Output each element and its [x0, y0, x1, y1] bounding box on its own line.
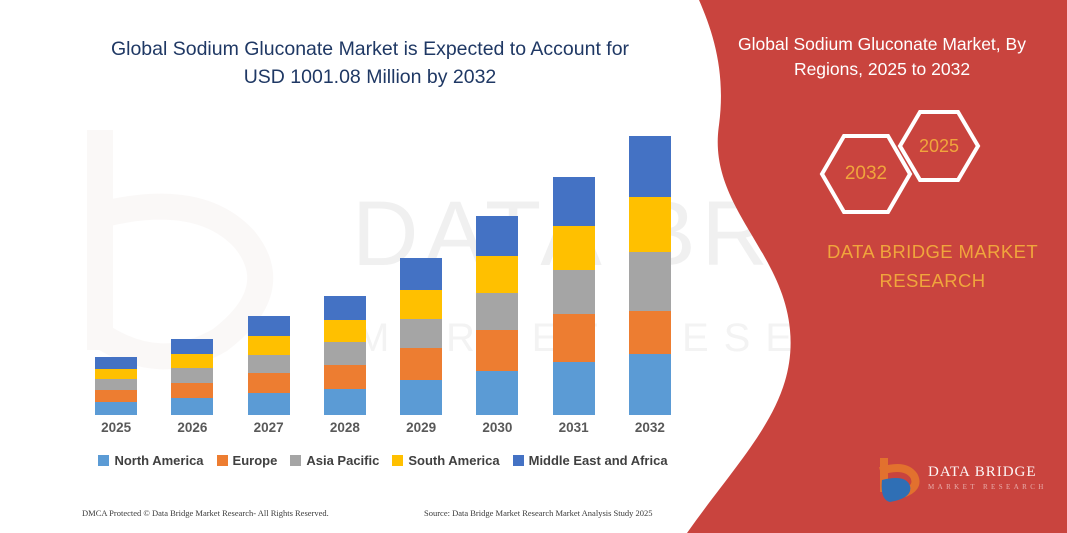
- bar-segment[interactable]: [248, 336, 290, 354]
- bar-segment[interactable]: [629, 311, 671, 353]
- bar-segment[interactable]: [171, 398, 213, 415]
- logo-tagline: MARKET RESEARCH: [928, 483, 1047, 491]
- legend-item[interactable]: South America: [392, 453, 499, 468]
- bar-segment[interactable]: [171, 368, 213, 382]
- bar-segment[interactable]: [553, 177, 595, 225]
- right-panel-title: Global Sodium Gluconate Market, By Regio…: [712, 32, 1052, 83]
- hexagon-badge-start-year: 2025: [896, 108, 982, 184]
- bar-segment[interactable]: [476, 216, 518, 256]
- bar-segment[interactable]: [553, 226, 595, 270]
- bar-segment[interactable]: [324, 342, 366, 364]
- stacked-bar[interactable]: [400, 258, 442, 415]
- brand-line-2: RESEARCH: [790, 267, 1067, 296]
- x-axis-tick-label: 2030: [459, 420, 535, 435]
- bar-segment[interactable]: [400, 380, 442, 415]
- legend-color-swatch: [98, 455, 109, 466]
- bar-segment[interactable]: [324, 389, 366, 415]
- stacked-bar[interactable]: [171, 339, 213, 415]
- bar-column: [231, 120, 307, 415]
- page-title: Global Sodium Gluconate Market is Expect…: [60, 36, 680, 91]
- bar-segment[interactable]: [476, 256, 518, 293]
- logo-name: DATA BRIDGE: [928, 464, 1047, 481]
- legend-item[interactable]: Asia Pacific: [290, 453, 379, 468]
- bar-segment[interactable]: [248, 393, 290, 415]
- legend-item[interactable]: North America: [98, 453, 203, 468]
- bar-segment[interactable]: [324, 365, 366, 389]
- legend-item[interactable]: Middle East and Africa: [513, 453, 668, 468]
- bar-segment[interactable]: [476, 371, 518, 415]
- legend-label: South America: [408, 453, 499, 468]
- bar-column: [307, 120, 383, 415]
- bar-segment[interactable]: [629, 197, 671, 252]
- bar-segment[interactable]: [95, 357, 137, 369]
- footer-copyright: DMCA Protected © Data Bridge Market Rese…: [82, 508, 329, 518]
- bar-segment[interactable]: [476, 293, 518, 330]
- bar-segment[interactable]: [400, 290, 442, 319]
- legend-color-swatch: [513, 455, 524, 466]
- data-bridge-logo-icon: [876, 458, 928, 506]
- page-title-line-2: USD 1001.08 Million by 2032: [60, 64, 680, 92]
- bar-segment[interactable]: [400, 319, 442, 348]
- bar-segment[interactable]: [400, 258, 442, 290]
- bar-segment[interactable]: [248, 316, 290, 336]
- legend-label: North America: [114, 453, 203, 468]
- right-panel-brand: DATA BRIDGE MARKET RESEARCH: [790, 238, 1067, 295]
- bar-segment[interactable]: [171, 339, 213, 355]
- data-bridge-logo-text: DATA BRIDGE MARKET RESEARCH: [928, 464, 1047, 491]
- x-axis-tick-label: 2031: [536, 420, 612, 435]
- bar-column: [154, 120, 230, 415]
- stacked-bar[interactable]: [553, 177, 595, 415]
- stacked-bar[interactable]: [629, 136, 671, 415]
- year-hexagon-group: 2032 2025: [818, 108, 988, 218]
- bar-segment[interactable]: [629, 354, 671, 415]
- right-panel-title-line-2: Regions, 2025 to 2032: [712, 57, 1052, 82]
- stacked-bar[interactable]: [248, 316, 290, 415]
- bar-segment[interactable]: [476, 330, 518, 370]
- x-axis-tick-label: 2032: [612, 420, 688, 435]
- bar-column: [78, 120, 154, 415]
- bar-segment[interactable]: [171, 383, 213, 399]
- stacked-bar[interactable]: [95, 357, 137, 415]
- x-axis-tick-label: 2026: [154, 420, 230, 435]
- chart-plot-area: [78, 120, 688, 415]
- legend-color-swatch: [392, 455, 403, 466]
- bar-segment[interactable]: [324, 320, 366, 342]
- bar-column: [383, 120, 459, 415]
- x-axis-labels: 20252026202720282029203020312032: [78, 420, 688, 435]
- x-axis-tick-label: 2025: [78, 420, 154, 435]
- hexagon-end-year-label: 2032: [845, 163, 887, 185]
- page-title-line-1: Global Sodium Gluconate Market is Expect…: [60, 36, 680, 64]
- bar-column: [536, 120, 612, 415]
- legend-label: Asia Pacific: [306, 453, 379, 468]
- stacked-bar[interactable]: [324, 296, 366, 415]
- right-panel-title-line-1: Global Sodium Gluconate Market, By: [712, 32, 1052, 57]
- bar-segment[interactable]: [248, 355, 290, 373]
- bar-segment[interactable]: [553, 314, 595, 362]
- bar-segment[interactable]: [95, 402, 137, 415]
- bar-segment[interactable]: [248, 373, 290, 393]
- legend-label: Middle East and Africa: [529, 453, 668, 468]
- bar-segment[interactable]: [629, 136, 671, 196]
- hexagon-start-year-label: 2025: [919, 136, 959, 157]
- x-axis-tick-label: 2027: [231, 420, 307, 435]
- footer-source: Source: Data Bridge Market Research Mark…: [424, 508, 653, 518]
- bar-segment[interactable]: [400, 348, 442, 380]
- bar-segment[interactable]: [171, 354, 213, 368]
- bar-segment[interactable]: [95, 369, 137, 380]
- stacked-bar[interactable]: [476, 216, 518, 415]
- bar-column: [459, 120, 535, 415]
- legend-color-swatch: [217, 455, 228, 466]
- bar-column: [612, 120, 688, 415]
- x-axis-tick-label: 2028: [307, 420, 383, 435]
- infographic-canvas: DATA BRIDGE MARKET RESEARCH Global Sodiu…: [0, 0, 1067, 533]
- bar-segment[interactable]: [553, 270, 595, 314]
- data-bridge-logo: DATA BRIDGE MARKET RESEARCH: [876, 458, 1061, 506]
- bar-segment[interactable]: [95, 379, 137, 390]
- bar-segment[interactable]: [324, 296, 366, 320]
- legend-label: Europe: [233, 453, 278, 468]
- legend-item[interactable]: Europe: [217, 453, 278, 468]
- brand-line-1: DATA BRIDGE MARKET: [790, 238, 1067, 267]
- bar-segment[interactable]: [629, 252, 671, 311]
- stacked-bar-series: [78, 120, 688, 415]
- bar-segment[interactable]: [95, 390, 137, 402]
- bar-segment[interactable]: [553, 362, 595, 415]
- chart-legend: North AmericaEuropeAsia PacificSouth Ame…: [78, 453, 688, 468]
- legend-color-swatch: [290, 455, 301, 466]
- x-axis-tick-label: 2029: [383, 420, 459, 435]
